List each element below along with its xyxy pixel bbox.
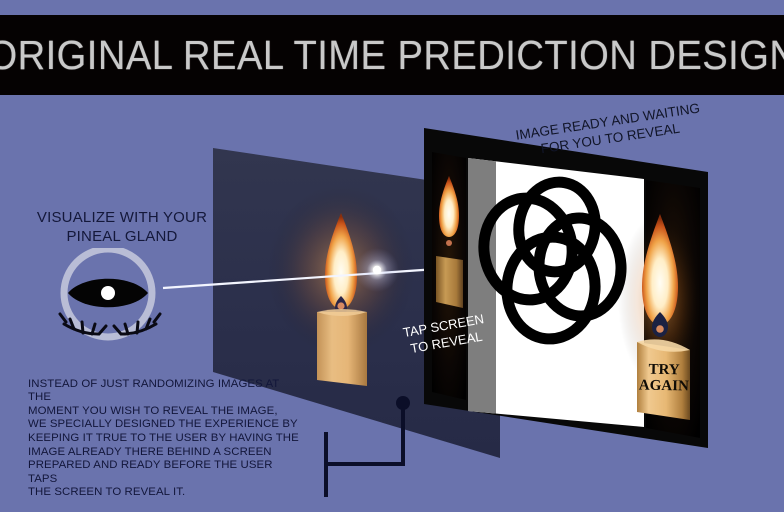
front-screen[interactable] (424, 128, 708, 448)
page-title: ORIGINAL REAL TIME PREDICTION DESIGN (0, 32, 784, 79)
candle-left-cell (432, 152, 466, 400)
candle-wax (637, 342, 690, 420)
beam-hotspot-core (373, 266, 381, 274)
candle-wax (317, 312, 367, 386)
third-eye-icon (44, 248, 204, 353)
poster-canvas: TRY AGAIN VISUALIZE WITH YOUR PINEAL GLA… (0, 0, 784, 512)
pineal-gland-group: VISUALIZE WITH YOUR PINEAL GLAND (22, 208, 222, 348)
description-paragraph-1: INSTEAD OF JUST RANDOMIZING IMAGES AT TH… (28, 378, 300, 500)
wick (337, 302, 344, 309)
title-banner: ORIGINAL REAL TIME PREDICTION DESIGN (0, 15, 784, 95)
eyelashes-right (114, 314, 160, 334)
pineal-label-line-2: PINEAL GLAND (22, 227, 222, 246)
eye-pupil (101, 286, 115, 300)
wick (656, 325, 664, 333)
pineal-label: VISUALIZE WITH YOUR PINEAL GLAND (22, 208, 222, 246)
pineal-label-line-1: VISUALIZE WITH YOUR (22, 208, 222, 227)
bracket-arm-upper (326, 403, 403, 464)
wick (446, 240, 452, 246)
description-text: INSTEAD OF JUST RANDOMIZING IMAGES AT TH… (28, 364, 300, 512)
candle-wax (436, 256, 463, 308)
eyelashes-left (60, 314, 106, 334)
callout-bracket (300, 392, 430, 507)
